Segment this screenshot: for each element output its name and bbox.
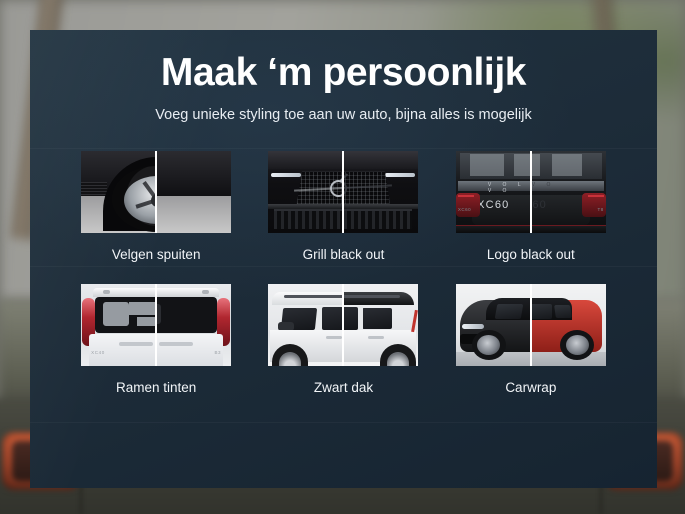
- wheel-image-after: [156, 151, 231, 233]
- lower-air-intake: [274, 209, 343, 229]
- model-badge-chrome: XC60: [477, 199, 509, 211]
- black-roof-before-after-image[interactable]: [268, 284, 418, 366]
- page-subtitle: Voeg unieke styling toe aan uw auto, bij…: [30, 107, 657, 123]
- side-window: [494, 304, 523, 319]
- model-badge-blacked-out: XC60: [531, 199, 547, 211]
- car-hood: [343, 151, 418, 169]
- window-tint-before-after-image[interactable]: XC40 B3: [81, 284, 231, 366]
- carwrap-before-after-image[interactable]: [456, 284, 606, 366]
- before-after-divider[interactable]: [530, 284, 532, 366]
- b-pillar: [317, 306, 322, 332]
- wheel-rim: [566, 335, 589, 355]
- roof-antenna: [103, 290, 110, 294]
- options-grid: Velgen spuiten: [63, 151, 625, 395]
- car-hood: [268, 151, 343, 169]
- tailgate-before-after-image[interactable]: V O L V O XC60 XC60 V O L V O: [456, 151, 606, 233]
- black-roof-image-before: [268, 284, 343, 366]
- black-roof-image-after: [343, 284, 418, 366]
- side-badge: T8: [598, 207, 604, 212]
- headlight: [462, 324, 484, 329]
- side-window: [531, 304, 552, 319]
- wheel-image-before: [81, 151, 156, 233]
- roof-rail: [343, 295, 400, 298]
- window-tint-image-before: XC40: [81, 284, 156, 366]
- before-after-divider[interactable]: [530, 151, 532, 233]
- grill-image-after: [343, 151, 418, 233]
- window-reflection: [552, 154, 582, 176]
- grill-before-after-image[interactable]: [268, 151, 418, 233]
- tailgate-panel: [156, 334, 223, 366]
- side-vent: [81, 182, 107, 196]
- before-after-divider[interactable]: [155, 284, 157, 366]
- side-window: [343, 307, 358, 330]
- side-window: [362, 308, 392, 329]
- model-badge: XC40: [91, 350, 105, 355]
- window-reflection: [470, 154, 504, 176]
- tailgate-image-after: V O L V O XC60 T8: [531, 151, 606, 233]
- option-label: Carwrap: [505, 380, 556, 395]
- rear-quarter-window: [554, 305, 572, 318]
- option-label: Grill black out: [303, 247, 385, 262]
- roof-black: [343, 292, 414, 305]
- side-badge: XC60: [458, 207, 471, 212]
- taillight-edge: [412, 310, 419, 332]
- roof-rail: [284, 295, 343, 298]
- window-reflection: [103, 302, 129, 326]
- door-handle: [368, 336, 384, 339]
- panel-header: Maak ‘m persoonlijk Voeg unieke styling …: [30, 30, 657, 123]
- option-card-carwrap[interactable]: Carwrap: [437, 284, 624, 395]
- lower-air-intake: [343, 209, 412, 229]
- panel-reflection-line: [30, 422, 657, 423]
- c-pillar: [358, 306, 363, 332]
- window-reflection: [531, 154, 540, 176]
- carwrap-image-before: [456, 284, 531, 366]
- rear-window-tinted: [156, 297, 217, 333]
- window-reflection: [129, 302, 156, 315]
- headlight-right: [385, 173, 415, 177]
- option-card-zwart-dak[interactable]: Zwart dak: [250, 284, 437, 395]
- window-reflection: [514, 154, 531, 176]
- option-card-ramen-tinten[interactable]: XC40 B3 Ramen tinten: [63, 284, 250, 395]
- volvo-wordmark-blacked-out: V O L V O: [531, 182, 556, 188]
- window-reflection: [137, 317, 156, 326]
- option-label: Ramen tinten: [116, 380, 196, 395]
- taillight-strip: [588, 195, 604, 197]
- grill-image-before: [268, 151, 343, 233]
- option-card-grill-black-out[interactable]: Grill black out: [250, 151, 437, 262]
- chrome-trim: [119, 342, 153, 346]
- option-label: Velgen spuiten: [112, 247, 201, 262]
- before-after-divider[interactable]: [342, 284, 344, 366]
- page-title: Maak ‘m persoonlijk: [30, 52, 657, 94]
- wheel-rim: [477, 335, 500, 355]
- chrome-trim: [159, 342, 193, 346]
- side-window: [322, 307, 343, 330]
- engine-badge: B3: [214, 350, 221, 355]
- car-body: [156, 151, 231, 196]
- option-card-logo-black-out[interactable]: V O L V O XC60 XC60 V O L V O: [437, 151, 624, 262]
- wheel-before-after-image[interactable]: [81, 151, 231, 233]
- option-card-velgen-spuiten[interactable]: Velgen spuiten: [63, 151, 250, 262]
- rear-bumper: [531, 225, 606, 233]
- roof-antenna: [202, 290, 209, 294]
- door-handle: [326, 336, 342, 339]
- tailgate-image-before: V O L V O XC60 XC60: [456, 151, 531, 233]
- roof-spoiler: [156, 288, 219, 297]
- taillight-strip: [458, 195, 474, 197]
- volvo-wordmark-chrome: V O L V O: [488, 182, 531, 194]
- roof-white: [272, 292, 343, 305]
- before-after-divider[interactable]: [155, 151, 157, 233]
- panel-reflection-line: [30, 148, 657, 149]
- personalization-panel: Maak ‘m persoonlijk Voeg unieke styling …: [30, 30, 657, 488]
- headlight-left: [271, 173, 301, 177]
- window-tint-image-after: B3: [156, 284, 231, 366]
- option-label: Zwart dak: [314, 380, 373, 395]
- rear-bumper: [456, 225, 531, 233]
- before-after-divider[interactable]: [342, 151, 344, 233]
- carwrap-image-after: [531, 284, 606, 366]
- option-label: Logo black out: [487, 247, 575, 262]
